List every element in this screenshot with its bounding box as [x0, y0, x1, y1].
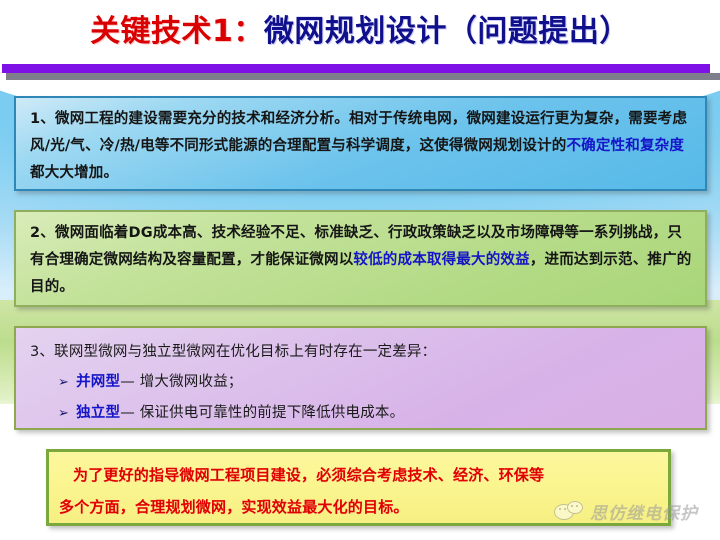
- content-box-2-text: 2、微网面临着DG成本高、技术经验不足、标准缺乏、行政政策缺乏以及市场障碍等一系…: [30, 220, 693, 301]
- list-item: ➢ 并网型 — 增大微网收益；: [30, 367, 693, 398]
- title-blue-part: 微网规划设计（问题提出）: [264, 14, 630, 49]
- watermark-text: 思仿继电保护: [590, 499, 698, 524]
- content-box-1-text: 1、微网工程的建设需要充分的技术和经济分析。相对于传统电网，微网建设运行更为复杂…: [30, 106, 693, 187]
- chevron-bullet-icon: ➢: [58, 399, 69, 429]
- summary-line-1: 为了更好的指导微网工程项目建设，必须综合考虑技术、经济、环保等: [59, 459, 658, 491]
- slide-canvas: 关键技术1：微网规划设计（问题提出） 1、微网工程的建设需要充分的技术和经济分析…: [0, 0, 720, 540]
- bullet-1-rest: — 保证供电可靠性的前提下降低供电成本。: [120, 398, 404, 428]
- content-box-3: 3、联网型微网与独立型微网在优化目标上有时存在一定差异： ➢ 并网型 — 增大微…: [14, 326, 707, 430]
- bullet-0-rest: — 增大微网收益；: [120, 367, 242, 397]
- box2-seg-1-highlight: 较低的成本取得最大的效益: [353, 252, 529, 268]
- content-box-3-lead: 3、联网型微网与独立型微网在优化目标上有时存在一定差异：: [30, 337, 693, 367]
- list-item: ➢ 独立型 — 保证供电可靠性的前提下降低供电成本。: [30, 398, 693, 429]
- title-underline-purple: [2, 64, 710, 73]
- box1-seg-2: 都大大增加。: [30, 165, 118, 181]
- bullet-1-key: 独立型: [76, 398, 120, 428]
- wechat-icon: [554, 501, 584, 523]
- page-title: 关键技术1：微网规划设计（问题提出）: [0, 10, 720, 54]
- title-red-part: 关键技术1：: [90, 14, 264, 49]
- watermark: 思仿继电保护: [554, 499, 698, 524]
- chevron-bullet-icon: ➢: [58, 368, 69, 398]
- box1-seg-1-highlight: 不确定性和复杂度: [566, 138, 684, 154]
- content-box-2: 2、微网面临着DG成本高、技术经验不足、标准缺乏、行政政策缺乏以及市场障碍等一系…: [14, 210, 707, 307]
- content-box-1: 1、微网工程的建设需要充分的技术和经济分析。相对于传统电网，微网建设运行更为复杂…: [14, 96, 707, 191]
- title-underline-shadow: [6, 73, 720, 80]
- bullet-0-key: 并网型: [76, 367, 120, 397]
